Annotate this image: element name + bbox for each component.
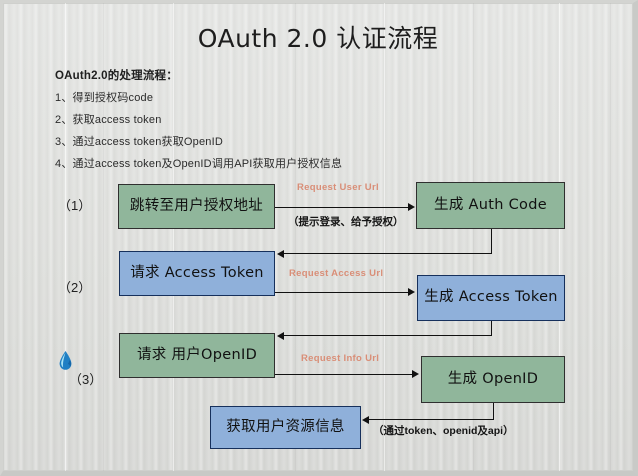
note-via-token-openid-api: （通过token、openid及api） (373, 423, 514, 438)
arrow-label-request-info-url: Request Info Url (301, 353, 379, 364)
connector-4-vline (491, 321, 492, 336)
connector-1-line (275, 207, 409, 208)
connector-3-arrowhead (408, 288, 415, 296)
node-gen-auth-code[interactable]: 生成 Auth Code (416, 182, 565, 229)
connector-6-arrowhead (362, 416, 369, 424)
intro-heading: OAuth2.0的处理流程： (55, 67, 342, 83)
arrow-label-request-user-url: Request User Url (297, 182, 379, 193)
intro-step-2: 2、获取access token (55, 111, 342, 127)
node-gen-openid[interactable]: 生成 OpenID (421, 356, 565, 403)
node-request-openid[interactable]: 请求 用户OpenID (119, 333, 275, 378)
note-login-grant: （提示登录、给予授权） (288, 214, 404, 229)
connector-5-line (275, 374, 413, 375)
node-jump-auth-url[interactable]: 跳转至用户授权地址 (118, 184, 275, 229)
connector-5-arrowhead (412, 370, 419, 378)
water-drop-icon (59, 351, 72, 370)
connector-4-hline (284, 335, 492, 336)
texture-streak (384, 3, 385, 471)
row-label-2: （2） (58, 277, 91, 296)
connector-2-vline (491, 229, 492, 254)
intro-step-4: 4、通过access token及OpenID调用API获取用户授权信息 (55, 155, 342, 171)
slide-canvas: OAuth 2.0 认证流程 OAuth2.0的处理流程： 1、得到授权码cod… (0, 0, 638, 476)
texture-streak (610, 3, 611, 471)
intro-block: OAuth2.0的处理流程： 1、得到授权码code 2、获取access to… (55, 67, 342, 177)
page-title: OAuth 2.0 认证流程 (3, 19, 633, 55)
connector-2-hline (284, 253, 492, 254)
connector-2-arrowhead (277, 250, 284, 258)
node-request-access-token[interactable]: 请求 Access Token (119, 251, 275, 296)
connector-3-line (275, 292, 409, 293)
connector-6-vline (493, 403, 494, 420)
intro-step-1: 1、得到授权码code (55, 89, 342, 105)
node-get-user-resource[interactable]: 获取用户资源信息 (210, 406, 361, 449)
node-gen-access-token[interactable]: 生成 Access Token (417, 275, 565, 321)
connector-4-arrowhead (277, 332, 284, 340)
arrow-label-request-access-url: Request Access Url (289, 268, 383, 279)
connector-1-arrowhead (408, 203, 415, 211)
row-label-3: （3） (69, 369, 102, 388)
row-label-1: （1） (58, 195, 91, 214)
connector-6-hline (369, 419, 494, 420)
intro-step-3: 3、通过access token获取OpenID (55, 133, 342, 149)
